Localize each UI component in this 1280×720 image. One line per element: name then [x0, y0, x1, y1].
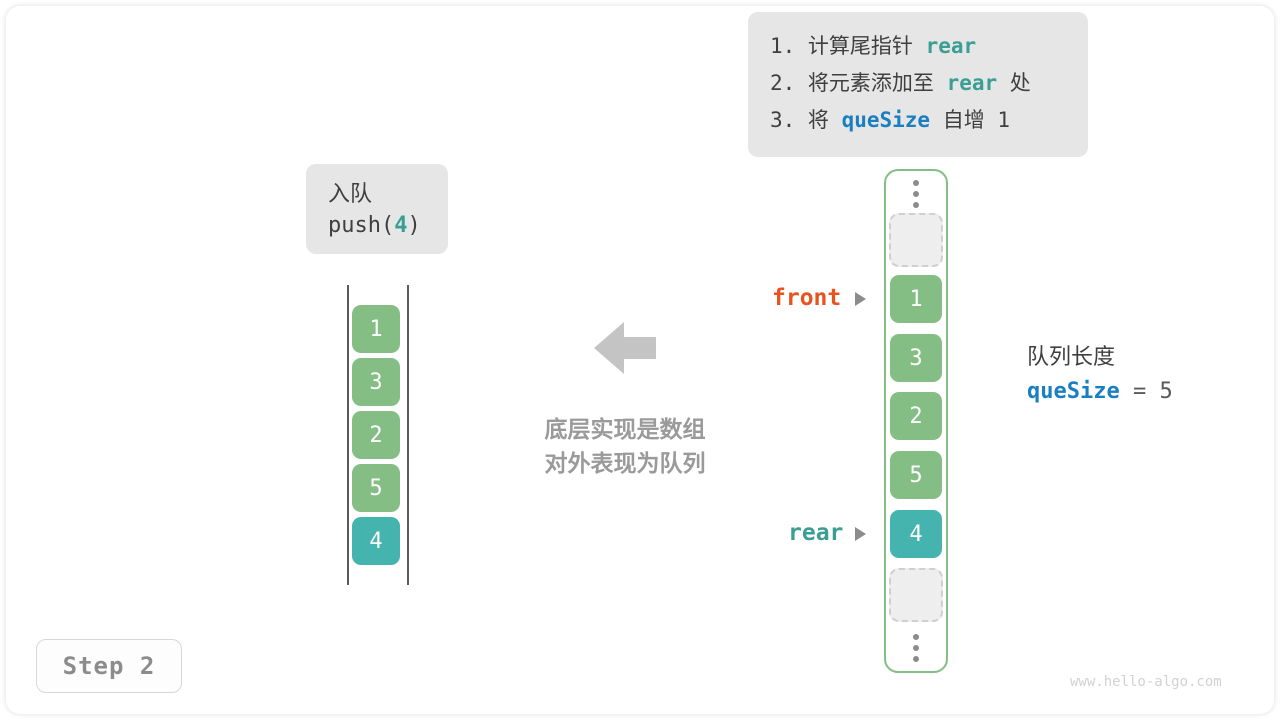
center-caption-line-2: 对外表现为队列	[500, 446, 750, 480]
array-cell: 5	[890, 451, 942, 499]
operation-label-box: 入队 push(4)	[306, 164, 448, 254]
array-empty-slot-top	[889, 213, 943, 267]
rear-pointer-label: rear	[788, 520, 843, 546]
watermark: www.hello-algo.com	[1070, 674, 1222, 690]
instruction-3-code: queSize	[842, 108, 931, 132]
instruction-2-suffix: 处	[997, 71, 1031, 95]
array-cell-highlight: 4	[890, 510, 942, 558]
instruction-3-prefix: 3. 将	[770, 108, 842, 132]
instruction-1-prefix: 1. 计算尾指针	[770, 34, 926, 58]
stack-rail-left	[347, 285, 349, 585]
step-badge: Step 2	[36, 639, 182, 693]
operation-title: 入队	[328, 178, 428, 210]
ellipsis-bottom-icon	[908, 634, 924, 662]
queue-size-variable: queSize	[1027, 379, 1120, 404]
operation-call: push(4)	[328, 210, 428, 242]
center-caption: 底层实现是数组 对外表现为队列	[500, 412, 750, 480]
stack-cell: 2	[352, 411, 400, 459]
array-cell: 2	[890, 392, 942, 440]
instruction-3-suffix: 自增 1	[930, 108, 1010, 132]
stack-cell-highlight: 4	[352, 517, 400, 565]
diagram-canvas: 1. 计算尾指针 rear 2. 将元素添加至 rear 处 3. 将 queS…	[0, 0, 1280, 720]
operation-call-prefix: push(	[328, 213, 394, 238]
queue-size-label: 队列长度	[1027, 340, 1173, 374]
instruction-line-2: 2. 将元素添加至 rear 处	[770, 65, 1066, 102]
front-pointer-arrow-icon	[855, 292, 866, 306]
queue-size-expression: queSize = 5	[1027, 374, 1173, 410]
front-pointer-label: front	[772, 285, 841, 311]
rear-pointer-arrow-icon	[855, 527, 866, 541]
instruction-panel: 1. 计算尾指针 rear 2. 将元素添加至 rear 处 3. 将 queS…	[748, 12, 1088, 157]
array-cell: 1	[890, 275, 942, 323]
instruction-2-code: rear	[947, 71, 998, 95]
stack-cell: 1	[352, 305, 400, 353]
instruction-line-3: 3. 将 queSize 自增 1	[770, 102, 1066, 139]
array-cell: 3	[890, 334, 942, 382]
queue-size-value: = 5	[1120, 379, 1173, 404]
stack-rail-right	[407, 285, 409, 585]
operation-call-suffix: )	[407, 213, 420, 238]
center-caption-line-1: 底层实现是数组	[500, 412, 750, 446]
instruction-1-code: rear	[926, 34, 977, 58]
stack-cell: 5	[352, 464, 400, 512]
left-arrow-icon	[594, 320, 656, 376]
operation-call-value: 4	[394, 213, 407, 238]
stack-cell: 3	[352, 358, 400, 406]
queue-size-annotation: 队列长度 queSize = 5	[1027, 340, 1173, 410]
instruction-2-prefix: 2. 将元素添加至	[770, 71, 947, 95]
ellipsis-top-icon	[908, 180, 924, 208]
instruction-line-1: 1. 计算尾指针 rear	[770, 28, 1066, 65]
array-empty-slot-bottom	[889, 568, 943, 622]
